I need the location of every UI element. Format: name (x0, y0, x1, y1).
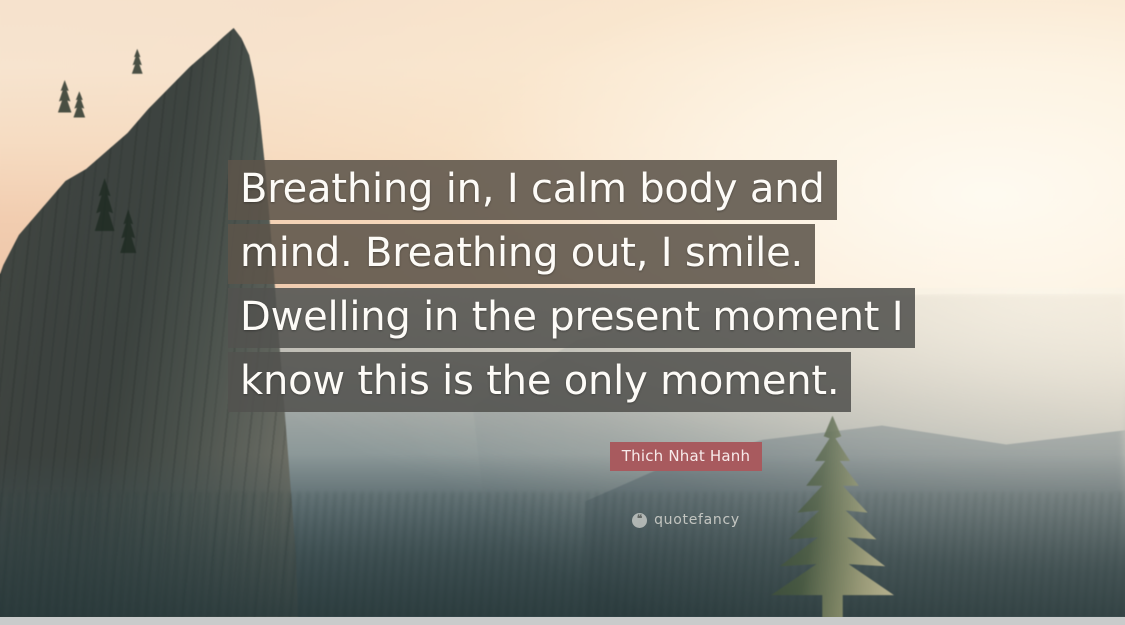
quote-line: Dwelling in the present moment I (228, 288, 915, 348)
quote-image-canvas: Breathing in, I calm body and mind. Brea… (0, 0, 1125, 625)
quote-line: Breathing in, I calm body and (228, 160, 837, 220)
author-badge: Thich Nhat Hanh (610, 442, 762, 471)
bottom-page-strip (0, 617, 1125, 625)
quote-text-block: Breathing in, I calm body and mind. Brea… (228, 160, 915, 412)
quotefancy-watermark[interactable]: ❝ quotefancy (632, 512, 740, 528)
quote-line: know this is the only moment. (228, 352, 851, 412)
author-row: Thich Nhat Hanh (228, 442, 1125, 471)
quote-mark-icon: ❝ (632, 513, 647, 528)
quote-overlay: Breathing in, I calm body and mind. Brea… (0, 0, 1125, 625)
quote-line: mind. Breathing out, I smile. (228, 224, 815, 284)
watermark-row: ❝ quotefancy (228, 512, 1125, 528)
watermark-brand-label: quotefancy (654, 512, 740, 528)
